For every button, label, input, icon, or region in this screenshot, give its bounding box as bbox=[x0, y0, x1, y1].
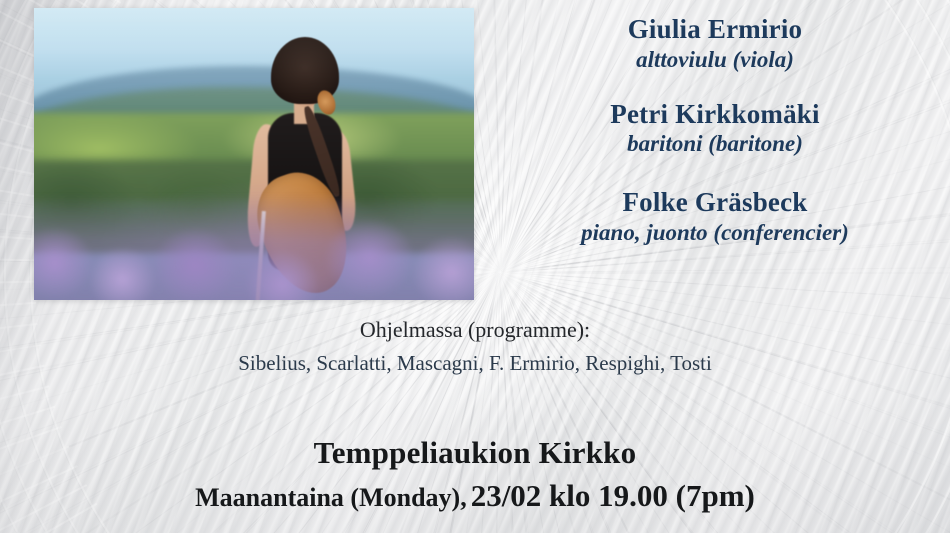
venue-name: Temppeliaukion Kirkko bbox=[0, 434, 950, 471]
programme-section: Ohjelmassa (programme): Sibelius, Scarla… bbox=[0, 316, 950, 377]
performer-role: alttoviulu (viola) bbox=[490, 46, 940, 75]
performer-entry: Folke Gräsbeck piano, juonto (conferenci… bbox=[490, 187, 940, 248]
event-day: Maanantaina (Monday), bbox=[195, 483, 467, 512]
event-time: 23/02 klo 19.00 (7pm) bbox=[471, 478, 755, 513]
concert-poster: Giulia Ermirio alttoviulu (viola) Petri … bbox=[0, 0, 950, 533]
performer-name: Folke Gräsbeck bbox=[490, 187, 940, 219]
performer-entry: Giulia Ermirio alttoviulu (viola) bbox=[490, 14, 940, 75]
performer-name: Petri Kirkkomäki bbox=[490, 99, 940, 131]
event-datetime: Maanantaina (Monday), 23/02 klo 19.00 (7… bbox=[0, 477, 950, 514]
programme-composers: Sibelius, Scarlatti, Mascagni, F. Ermiri… bbox=[0, 349, 950, 377]
venue-section: Temppeliaukion Kirkko Maanantaina (Monda… bbox=[0, 434, 950, 514]
performer-role: baritoni (baritone) bbox=[490, 130, 940, 159]
performer-name: Giulia Ermirio bbox=[490, 14, 940, 46]
violist-photo bbox=[34, 8, 474, 300]
performers-list: Giulia Ermirio alttoviulu (viola) Petri … bbox=[490, 14, 940, 248]
performer-role: piano, juonto (conferencier) bbox=[490, 219, 940, 248]
photo-lavender-foreground bbox=[34, 195, 474, 300]
programme-heading: Ohjelmassa (programme): bbox=[0, 316, 950, 345]
performer-entry: Petri Kirkkomäki baritoni (baritone) bbox=[490, 99, 940, 160]
